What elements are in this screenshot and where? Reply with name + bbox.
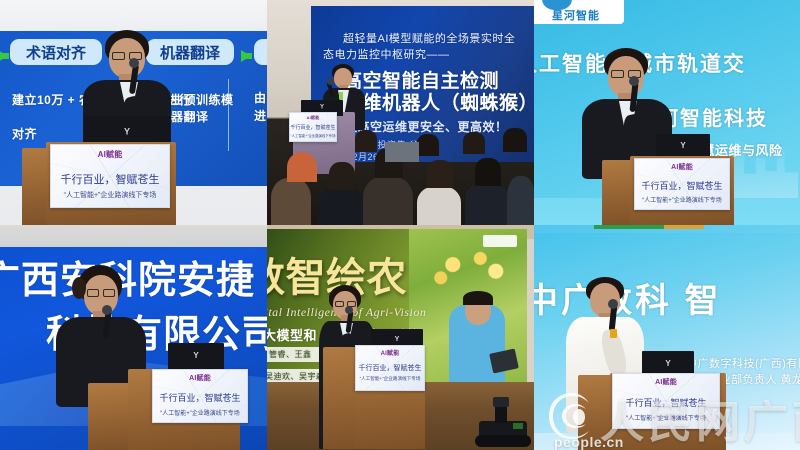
sign-logo-6: AI赋能	[655, 377, 677, 387]
audience-chair	[385, 142, 419, 162]
sign-main-3: 千行百业，智赋苍生	[641, 179, 722, 192]
sign-logo-5: AI赋能	[381, 348, 400, 357]
melon-fruit-graphic	[427, 247, 513, 291]
slide-names-1: 管睿、王鑫	[269, 349, 312, 360]
sign-main-1: 千行百业，智赋苍生	[61, 171, 160, 187]
flow-box-3	[254, 39, 267, 65]
slide-names-2: 吴迪欢、吴宇森	[267, 371, 325, 382]
sign-sub-6: “人工智能+”企业路演线下专场	[626, 413, 706, 422]
collage-panel-5[interactable]: 数智绘农 Digital Intelligence of Agri-Vision…	[267, 225, 534, 450]
sign-logo-3: AI赋能	[671, 162, 693, 172]
podium-sign-3[interactable]: AI赋能 千行百业，智赋苍生 “人工智能+”企业路演线下专场	[634, 158, 730, 210]
slide-credit1-6: 中广数字科技(广西)有限	[686, 355, 800, 371]
laptop-4: Y	[168, 343, 224, 369]
podium-sign-1[interactable]: AI赋能 千行百业，智赋苍生 “人工智能+”企业路演线下专场	[50, 144, 170, 208]
sign-main-6: 千行百业，智赋苍生	[625, 396, 706, 409]
collage-panel-2[interactable]: 超轻量AI模型赋能的全场景实时全 态电力监控中枢研究—— 高空智能自主检测 运维…	[267, 0, 534, 225]
sign-logo-2: AI赋能	[307, 115, 320, 121]
podium-sign-6[interactable]: AI赋能 千行百业，智赋苍生 “人工智能+”企业路演线下专场	[612, 373, 720, 429]
slide-right-line-1: 由	[254, 89, 267, 106]
collage-panel-1[interactable]: 术语对齐 机器翻译 建立10万 + 农业核心术语库进行 于农业预训练模 行机器翻…	[0, 0, 267, 225]
sign-logo-4: AI赋能	[189, 373, 211, 383]
slide-right-line-2: 进	[254, 107, 267, 124]
sign-main-4: 千行百业，智赋苍生	[159, 391, 240, 404]
sign-sub-3: “人工智能+”企业路演线下专场	[642, 195, 722, 204]
laptop-logo: Y	[680, 141, 685, 150]
collage-panel-3[interactable]: 人工智能的城市轨道交 星河智能科技 智慧运维与风险 星河智能 Y	[534, 0, 800, 225]
top-banner-strip-6	[594, 225, 664, 229]
collage-panel-4[interactable]: 广西安科院安捷 科技有限公司 Y AI赋能 千行百业，智赋苍生 “人工智能+”	[0, 225, 267, 450]
photo-collage: 术语对齐 机器翻译 建立10万 + 农业核心术语库进行 于农业预训练模 行机器翻…	[0, 0, 800, 450]
podium-sign-5[interactable]: AI赋能 千行百业，智赋苍生 “人工智能+”企业路演线下专场	[355, 345, 425, 391]
laptop-3: Y	[656, 134, 710, 158]
podium-sign-2[interactable]: AI赋能 千行百业，智赋苍生 “人工智能+”企业路演线下专场	[289, 112, 337, 142]
sponsor-logo-5	[483, 235, 517, 247]
slide-line-1: 超轻量AI模型赋能的全场景实时全	[343, 30, 515, 46]
sign-main-2: 千行百业，智赋苍生	[290, 124, 335, 131]
sign-sub-4: “人工智能+”企业路演线下专场	[160, 408, 240, 417]
sign-logo-1: AI赋能	[98, 149, 123, 160]
slide-title-2: 运维机器人（蜘蛛猴）	[343, 88, 534, 115]
mic-band	[610, 329, 617, 338]
top-banner-strip-6b	[664, 225, 704, 229]
flow-box-1: 术语对齐	[10, 39, 102, 65]
laptop-logo: Y	[395, 336, 400, 343]
sign-main-5: 千行百业，智赋苍生	[359, 363, 422, 373]
laptop-logo: Y	[124, 127, 130, 137]
slide-body-line-4: 对齐	[12, 125, 37, 142]
sign-sub-5: “人工智能+”企业路演线下专场	[360, 376, 421, 382]
collage-panel-6[interactable]: 中广数科 智 中广数字科技(广西)有限 事业部负责人 黄龙 Y AI赋能 千行百…	[534, 225, 800, 450]
laptop-logo: Y	[193, 351, 198, 360]
hair-bun	[72, 277, 86, 299]
farmer-hair	[463, 291, 493, 305]
laptop-logo: Y	[320, 105, 324, 111]
sign-sub-1: “人工智能+”企业路演线下专场	[64, 190, 157, 200]
sign-sub-2: “人工智能+”企业路演线下专场	[291, 133, 336, 138]
laptop-logo: Y	[665, 359, 670, 368]
flow-box-2: 机器翻译	[146, 39, 234, 65]
podium-sign-4[interactable]: AI赋能 千行百业，智赋苍生 “人工智能+”企业路演线下专场	[152, 369, 248, 423]
slide-headline-6: 中广数科 智	[534, 273, 721, 322]
slide-line1-4: 广西安科院安捷	[0, 249, 255, 304]
slide-divider	[228, 79, 229, 151]
slide-line-2: 态电力监控中枢研究——	[323, 46, 450, 62]
